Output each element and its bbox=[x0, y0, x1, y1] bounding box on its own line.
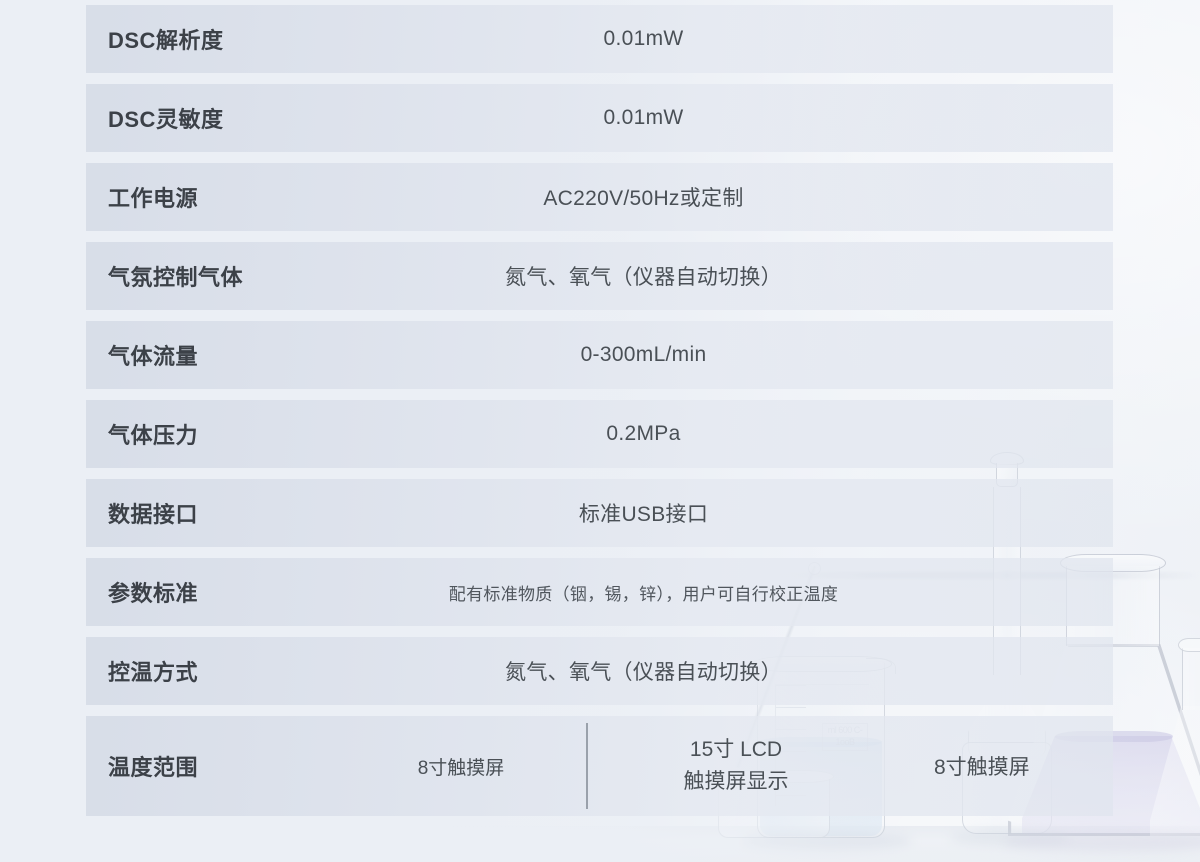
table-row: 参数标准 配有标准物质（铟，锡，锌），用户可自行校正温度 bbox=[86, 558, 1113, 626]
spec-label: 工作电源 bbox=[86, 181, 336, 213]
spec-label: 气氛控制气体 bbox=[86, 260, 336, 292]
spec-label: 控温方式 bbox=[86, 655, 336, 687]
lcd-display-line-1: 15寸 LCD bbox=[616, 734, 856, 766]
lcd-display-line-2: 触摸屏显示 bbox=[616, 766, 856, 798]
table-row: 数据接口 标准USB接口 bbox=[86, 479, 1113, 547]
touchscreen-left-value: 8寸触摸屏 bbox=[336, 753, 586, 780]
table-row: 工作电源 AC220V/50Hz或定制 bbox=[86, 163, 1113, 231]
table-row: 气氛控制气体 氮气、氧气（仪器自动切换） bbox=[86, 242, 1113, 310]
spec-value: 氮气、氧气（仪器自动切换） bbox=[336, 656, 951, 686]
spec-label: 气体压力 bbox=[86, 418, 336, 450]
table-row: DSC解析度 0.01mW bbox=[86, 5, 1113, 73]
lcd-display-value: 15寸 LCD 触摸屏显示 bbox=[616, 734, 856, 798]
spec-value: AC220V/50Hz或定制 bbox=[336, 182, 951, 212]
table-row-temperature-range: 温度范围 8寸触摸屏 15寸 LCD 触摸屏显示 8寸触摸屏 bbox=[86, 716, 1113, 816]
table-row: 气体流量 0-300mL/min bbox=[86, 321, 1113, 389]
spec-label: 数据接口 bbox=[86, 497, 336, 529]
spec-label: DSC解析度 bbox=[86, 23, 336, 55]
spec-label: 参数标准 bbox=[86, 576, 336, 608]
spec-value: 0.01mW bbox=[336, 27, 951, 51]
table-row: DSC灵敏度 0.01mW bbox=[86, 84, 1113, 152]
spec-value: 标准USB接口 bbox=[336, 498, 951, 528]
spec-label: 气体流量 bbox=[86, 339, 336, 371]
spec-value: 氮气、氧气（仪器自动切换） bbox=[336, 261, 951, 291]
touchscreen-right-value: 8寸触摸屏 bbox=[934, 751, 1030, 781]
spec-value: 0.01mW bbox=[336, 106, 951, 130]
spec-value: 配有标准物质（铟，锡，锌），用户可自行校正温度 bbox=[336, 580, 951, 605]
page-root: ml 600 C-1ooB DSC解析度 0.01mW DSC灵敏度 bbox=[0, 0, 1200, 862]
spec-label: 温度范围 bbox=[86, 750, 336, 782]
spec-value: 0.2MPa bbox=[336, 422, 951, 446]
table-row: 控温方式 氮气、氧气（仪器自动切换） bbox=[86, 637, 1113, 705]
specification-table: DSC解析度 0.01mW DSC灵敏度 0.01mW 工作电源 AC220V/… bbox=[86, 5, 1113, 816]
table-row: 气体压力 0.2MPa bbox=[86, 400, 1113, 468]
spec-value: 0-300mL/min bbox=[336, 343, 951, 367]
spec-label: DSC灵敏度 bbox=[86, 102, 336, 134]
